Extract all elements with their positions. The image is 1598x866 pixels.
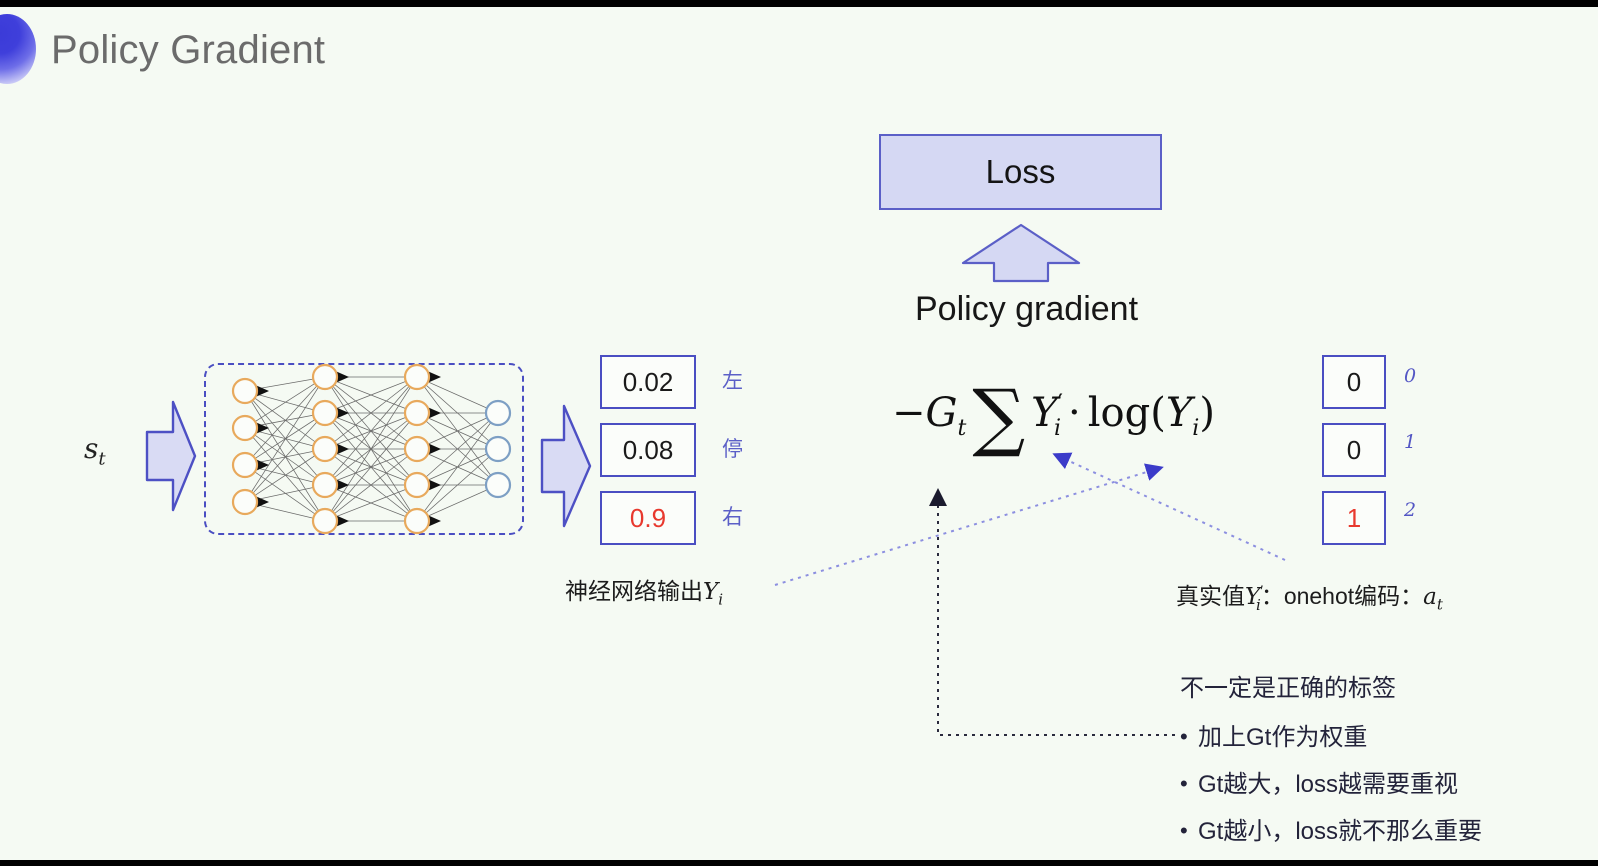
network-output-caption-sub: i	[718, 591, 723, 609]
loss-formula: −Gt∑Y′i·log(Yi)	[892, 380, 1215, 454]
probability-box: 0.08	[600, 423, 696, 477]
network-output-caption-var: Y	[703, 579, 718, 605]
onehot-index-label: 1	[1404, 431, 1416, 453]
neural-network-diagram	[204, 363, 524, 535]
state-subscript: t	[98, 449, 105, 470]
bullet-glyph: •	[1180, 725, 1198, 748]
connector-weight-note-to-gain	[938, 492, 1175, 735]
notes-panel: 不一定是正确的标签 • 加上Gt作为权重 • Gt越大，loss越需要重视 • …	[1180, 668, 1580, 866]
list-item: • Gt越小，loss就不那么重要	[1180, 819, 1580, 844]
notes-heading: 不一定是正确的标签	[1180, 668, 1580, 703]
formula-pred: Y	[1166, 390, 1192, 436]
formula-minus: −	[892, 390, 926, 436]
formula-gain-subscript: t	[957, 416, 966, 441]
action-label: 停	[722, 433, 743, 463]
network-output-caption: 神经网络输出Yi	[565, 572, 723, 609]
list-item: • Gt越大，loss越需要重视	[1180, 772, 1580, 797]
state-label: st	[84, 432, 106, 470]
onehot-index-label: 2	[1404, 499, 1416, 521]
formula-log: log(	[1088, 390, 1166, 436]
formula-summation-symbol: ∑	[966, 374, 1031, 460]
bullet-glyph: •	[1180, 819, 1198, 842]
title-bullet-icon	[0, 14, 36, 84]
formula-close-paren: )	[1199, 390, 1215, 436]
formula-dot: ·	[1061, 390, 1088, 436]
action-label: 左	[722, 365, 743, 395]
letterbox-bottom-bar	[0, 860, 1598, 866]
page-title: Policy Gradient	[51, 28, 325, 73]
loss-box: Loss	[879, 134, 1162, 210]
truth-value-caption: 真实值Y′i：onehot编码：at	[1176, 577, 1443, 614]
onehot-box: 0	[1322, 423, 1386, 477]
list-item-label: 加上Gt作为权重	[1198, 725, 1367, 750]
list-item-label: Gt越大，loss越需要重视	[1198, 772, 1458, 797]
formula-gain: G	[926, 390, 958, 436]
policy-gradient-caption: Policy gradient	[915, 290, 1138, 329]
onehot-index-label: 0	[1404, 365, 1416, 387]
output-block-arrow-icon	[540, 402, 592, 530]
policy-gradient-up-arrow-icon	[960, 222, 1082, 284]
slide-canvas: Policy Gradient st	[0, 0, 1598, 866]
probability-box: 0.02	[600, 355, 696, 409]
letterbox-top-bar	[0, 0, 1598, 7]
truth-caption-action-sub: t	[1437, 596, 1443, 614]
list-item-label: Gt越小，loss就不那么重要	[1198, 819, 1482, 844]
truth-caption-middle: ：onehot编码：	[1261, 583, 1423, 609]
connector-truth-to-formula	[1056, 455, 1285, 560]
formula-target-subscript: i	[1054, 416, 1061, 441]
connector-network-output-to-formula	[775, 468, 1160, 585]
bullet-glyph: •	[1180, 772, 1198, 795]
network-output-caption-text: 神经网络输出	[565, 578, 703, 604]
input-block-arrow-icon	[145, 398, 197, 514]
onehot-box: 0	[1322, 355, 1386, 409]
state-symbol: s	[84, 432, 98, 465]
truth-caption-prefix: 真实值	[1176, 583, 1245, 609]
list-item: • 加上Gt作为权重	[1180, 725, 1580, 750]
action-label: 右	[722, 501, 743, 531]
truth-caption-action-var: a	[1423, 584, 1437, 610]
onehot-box: 1	[1322, 491, 1386, 545]
probability-box: 0.9	[600, 491, 696, 545]
